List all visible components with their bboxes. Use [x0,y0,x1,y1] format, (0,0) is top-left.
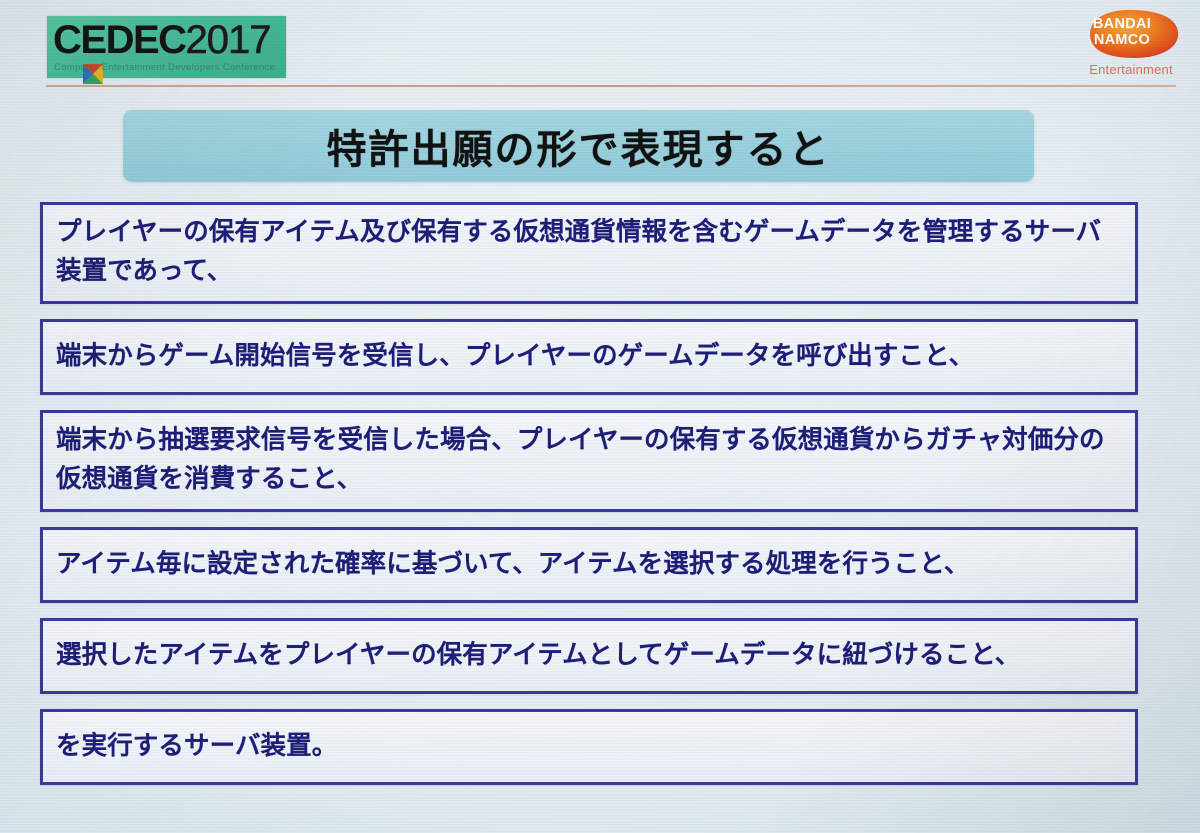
namco-line: NAMCO [1070,33,1174,49]
cedec-logo-year: 2017 [186,18,271,62]
claim-text: プレイヤーの保有アイテム及び保有する仮想通貨情報を含むゲームデータを管理するサー… [56,213,1122,291]
claim-text: を実行するサーバ装置。 [56,727,337,766]
cedec-wordmark: CE DEC2017 [53,17,271,63]
claim-text: アイテム毎に設定された確率に基づいて、アイテムを選択する処理を行うこと、 [56,545,969,584]
claim-text: 端末から抽選要求信号を受信した場合、プレイヤーの保有する仮想通貨からガチャ対価分… [56,421,1122,499]
claim-list: プレイヤーの保有アイテム及び保有する仮想通貨情報を含むゲームデータを管理するサー… [40,202,1138,800]
cedec-logo-subtitle: Computer Entertainment Developers Confer… [54,62,275,73]
cedec-logo-word-dec: DEC [106,18,186,62]
claim-box-consume-currency: 端末から抽選要求信号を受信した場合、プレイヤーの保有する仮想通貨からガチャ対価分… [40,410,1138,512]
bandai-line: BANDAI [1070,17,1174,33]
claim-box-link-item: 選択したアイテムをプレイヤーの保有アイテムとしてゲームデータに紐づけること、 [40,618,1138,694]
claim-box-select-item: アイテム毎に設定された確率に基づいて、アイテムを選択する処理を行うこと、 [40,527,1138,603]
cedec-logo: CE DEC2017 Computer Entertainment Develo… [47,16,286,78]
slide-title-banner: 特許出願の形で表現すると [123,110,1034,182]
page-title: 特許出願の形で表現すると [327,117,831,175]
bandai-namco-logo: BANDAI NAMCO Entertainment [1070,6,1192,86]
slide-header: CE DEC2017 Computer Entertainment Develo… [0,0,1200,96]
slide-canvas: CE DEC2017 Computer Entertainment Develo… [0,0,1200,833]
claim-text: 選択したアイテムをプレイヤーの保有アイテムとしてゲームデータに紐づけること、 [56,636,1020,675]
cedec-logo-word-ce: CE [53,18,106,62]
bandai-namco-name: BANDAI NAMCO [1070,17,1174,48]
claim-box-receive-start-signal: 端末からゲーム開始信号を受信し、プレイヤーのゲームデータを呼び出すこと、 [40,319,1138,395]
claim-text: 端末からゲーム開始信号を受信し、プレイヤーのゲームデータを呼び出すこと、 [56,337,974,376]
claim-box-closing: を実行するサーバ装置。 [40,709,1138,785]
bandai-namco-tagline: Entertainment [1070,62,1192,77]
header-divider [46,85,1176,87]
claim-box-preamble: プレイヤーの保有アイテム及び保有する仮想通貨情報を含むゲームデータを管理するサー… [40,202,1138,304]
